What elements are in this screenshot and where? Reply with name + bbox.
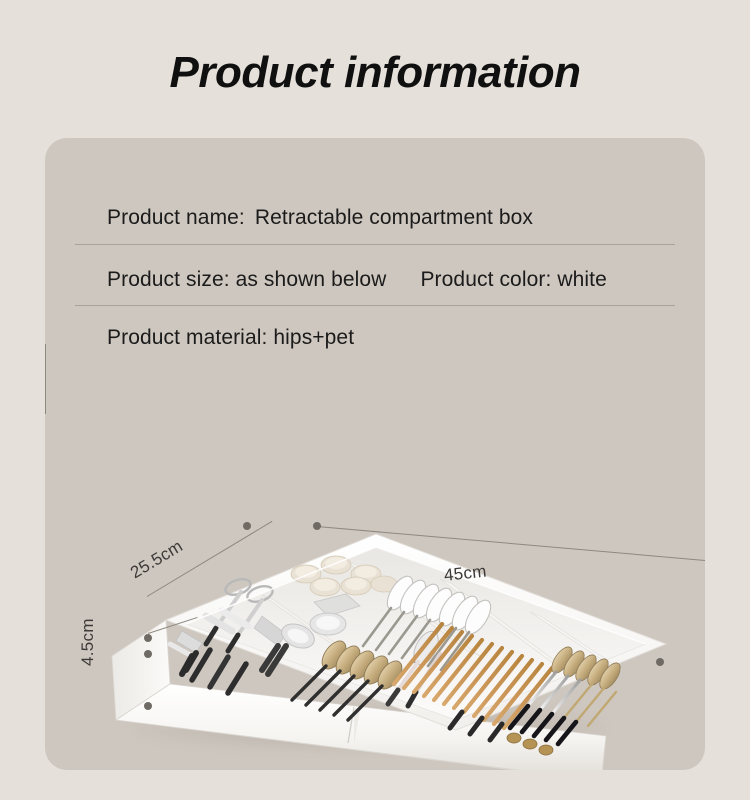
info-row-size-color: Product size: as shown below Product col… — [45, 250, 705, 310]
height-dimension-dot-top — [144, 634, 152, 642]
depth-dimension-dot — [243, 522, 251, 530]
page-title: Product information — [0, 48, 750, 98]
product-photo: 25.5cm 45cm 4.5cm — [45, 344, 705, 770]
height-dimension-dot-mid — [144, 650, 152, 658]
height-dimension-label: 4.5cm — [78, 618, 98, 666]
product-info-panel: Product name: Retractable compartment bo… — [45, 138, 705, 770]
product-name-label: Product name: — [107, 206, 245, 230]
divider-1 — [75, 244, 675, 245]
info-row-product-name: Product name: Retractable compartment bo… — [45, 188, 705, 248]
divider-2 — [75, 305, 675, 306]
width-dimension-dot-right — [656, 658, 664, 666]
product-size-label: Product size: as shown below — [107, 268, 386, 292]
height-dimension-dot-bottom — [144, 702, 152, 710]
width-dimension-dot-left — [313, 522, 321, 530]
product-color-label: Product color: white — [420, 268, 606, 292]
height-dimension-line — [45, 344, 46, 414]
compartment-box-illustration — [110, 524, 670, 770]
product-name-value: Retractable compartment box — [255, 206, 533, 230]
